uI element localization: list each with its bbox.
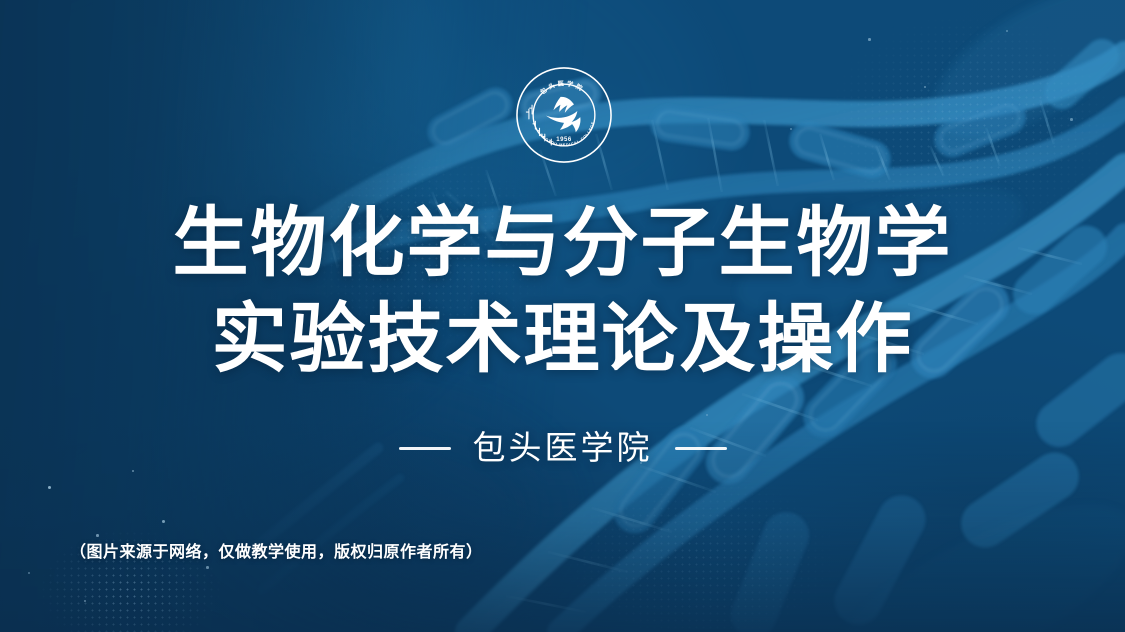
- slide-subtitle: 包头医学院: [0, 428, 1125, 468]
- slide-title: 生物化学与分子生物学 实验技术理论及操作: [0, 196, 1125, 388]
- college-seal-logo: 1956 包头医学院 BAOTOU MEDICAL COLLEGE: [515, 66, 613, 164]
- seal-chinese-arc-text: 包头医学院: [538, 79, 586, 97]
- subtitle-text: 包头医学院: [473, 428, 653, 468]
- subtitle-rule-right: [675, 447, 727, 450]
- seal-bird-emblem: [546, 97, 580, 132]
- presentation-title-slide: 1956 包头医学院 BAOTOU MEDICAL COLLEGE: [0, 0, 1125, 632]
- title-line-1: 生物化学与分子生物学: [0, 196, 1125, 292]
- title-line-2: 实验技术理论及操作: [0, 292, 1125, 388]
- subtitle-rule-left: [399, 447, 451, 450]
- copyright-footnote: （图片来源于网络，仅做教学使用，版权归原作者所有）: [70, 542, 483, 564]
